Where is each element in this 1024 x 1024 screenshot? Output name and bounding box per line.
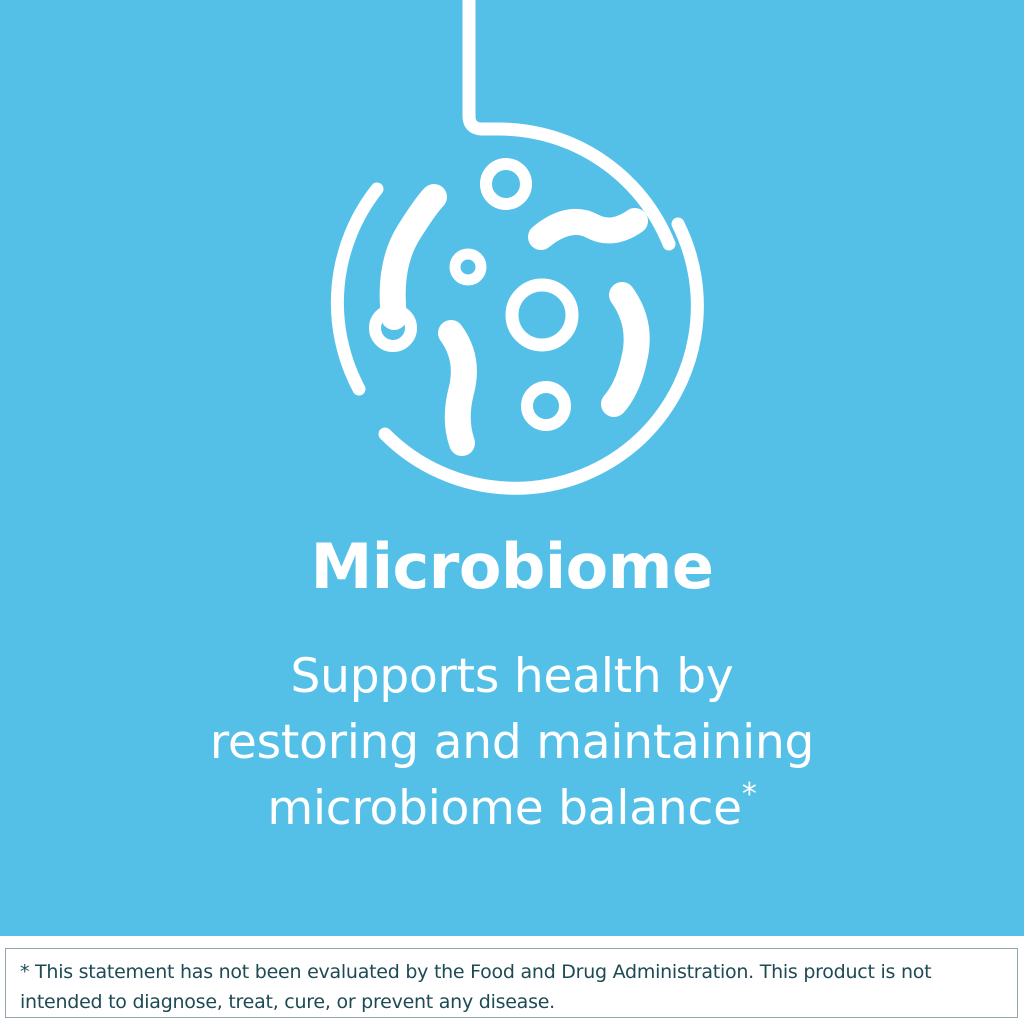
page-title: Microbiome bbox=[0, 534, 1024, 599]
petri-dish-microbes-icon bbox=[0, 0, 1024, 500]
microbe-rod-upper-left bbox=[393, 197, 434, 317]
disclaimer-box: * This statement has not been evaluated … bbox=[5, 948, 1018, 1018]
footer-spacer bbox=[0, 936, 1024, 948]
footnote-marker: * bbox=[742, 777, 757, 812]
benefit-description: Supports health by restoring and maintai… bbox=[0, 644, 1024, 842]
hero-panel: Microbiome Supports health by restoring … bbox=[0, 0, 1024, 936]
dropper-stem-path bbox=[469, 0, 500, 129]
dish-rim-left-arc bbox=[337, 189, 377, 389]
benefit-description-line-1: Supports health by bbox=[0, 644, 1024, 710]
microbe-rod-upper-right bbox=[541, 221, 635, 237]
benefit-card: Microbiome Supports health by restoring … bbox=[0, 0, 1024, 1024]
benefit-description-line-3-text: microbiome balance bbox=[267, 781, 741, 836]
dish-rim-bottom-arc bbox=[385, 434, 640, 488]
microbe-rod-lower-left bbox=[451, 333, 464, 443]
microbe-rod-right bbox=[614, 295, 637, 404]
disclaimer-text: * This statement has not been evaluated … bbox=[20, 957, 1003, 1017]
benefit-description-line-3: microbiome balance* bbox=[0, 776, 1024, 842]
microbe-coccus-center bbox=[512, 285, 572, 345]
benefit-description-line-2: restoring and maintaining bbox=[0, 710, 1024, 776]
microbe-coccus-upper-center bbox=[486, 164, 526, 204]
microbe-coccus-bottom-center bbox=[527, 387, 565, 425]
microbe-coccus-middle-small bbox=[455, 254, 481, 280]
